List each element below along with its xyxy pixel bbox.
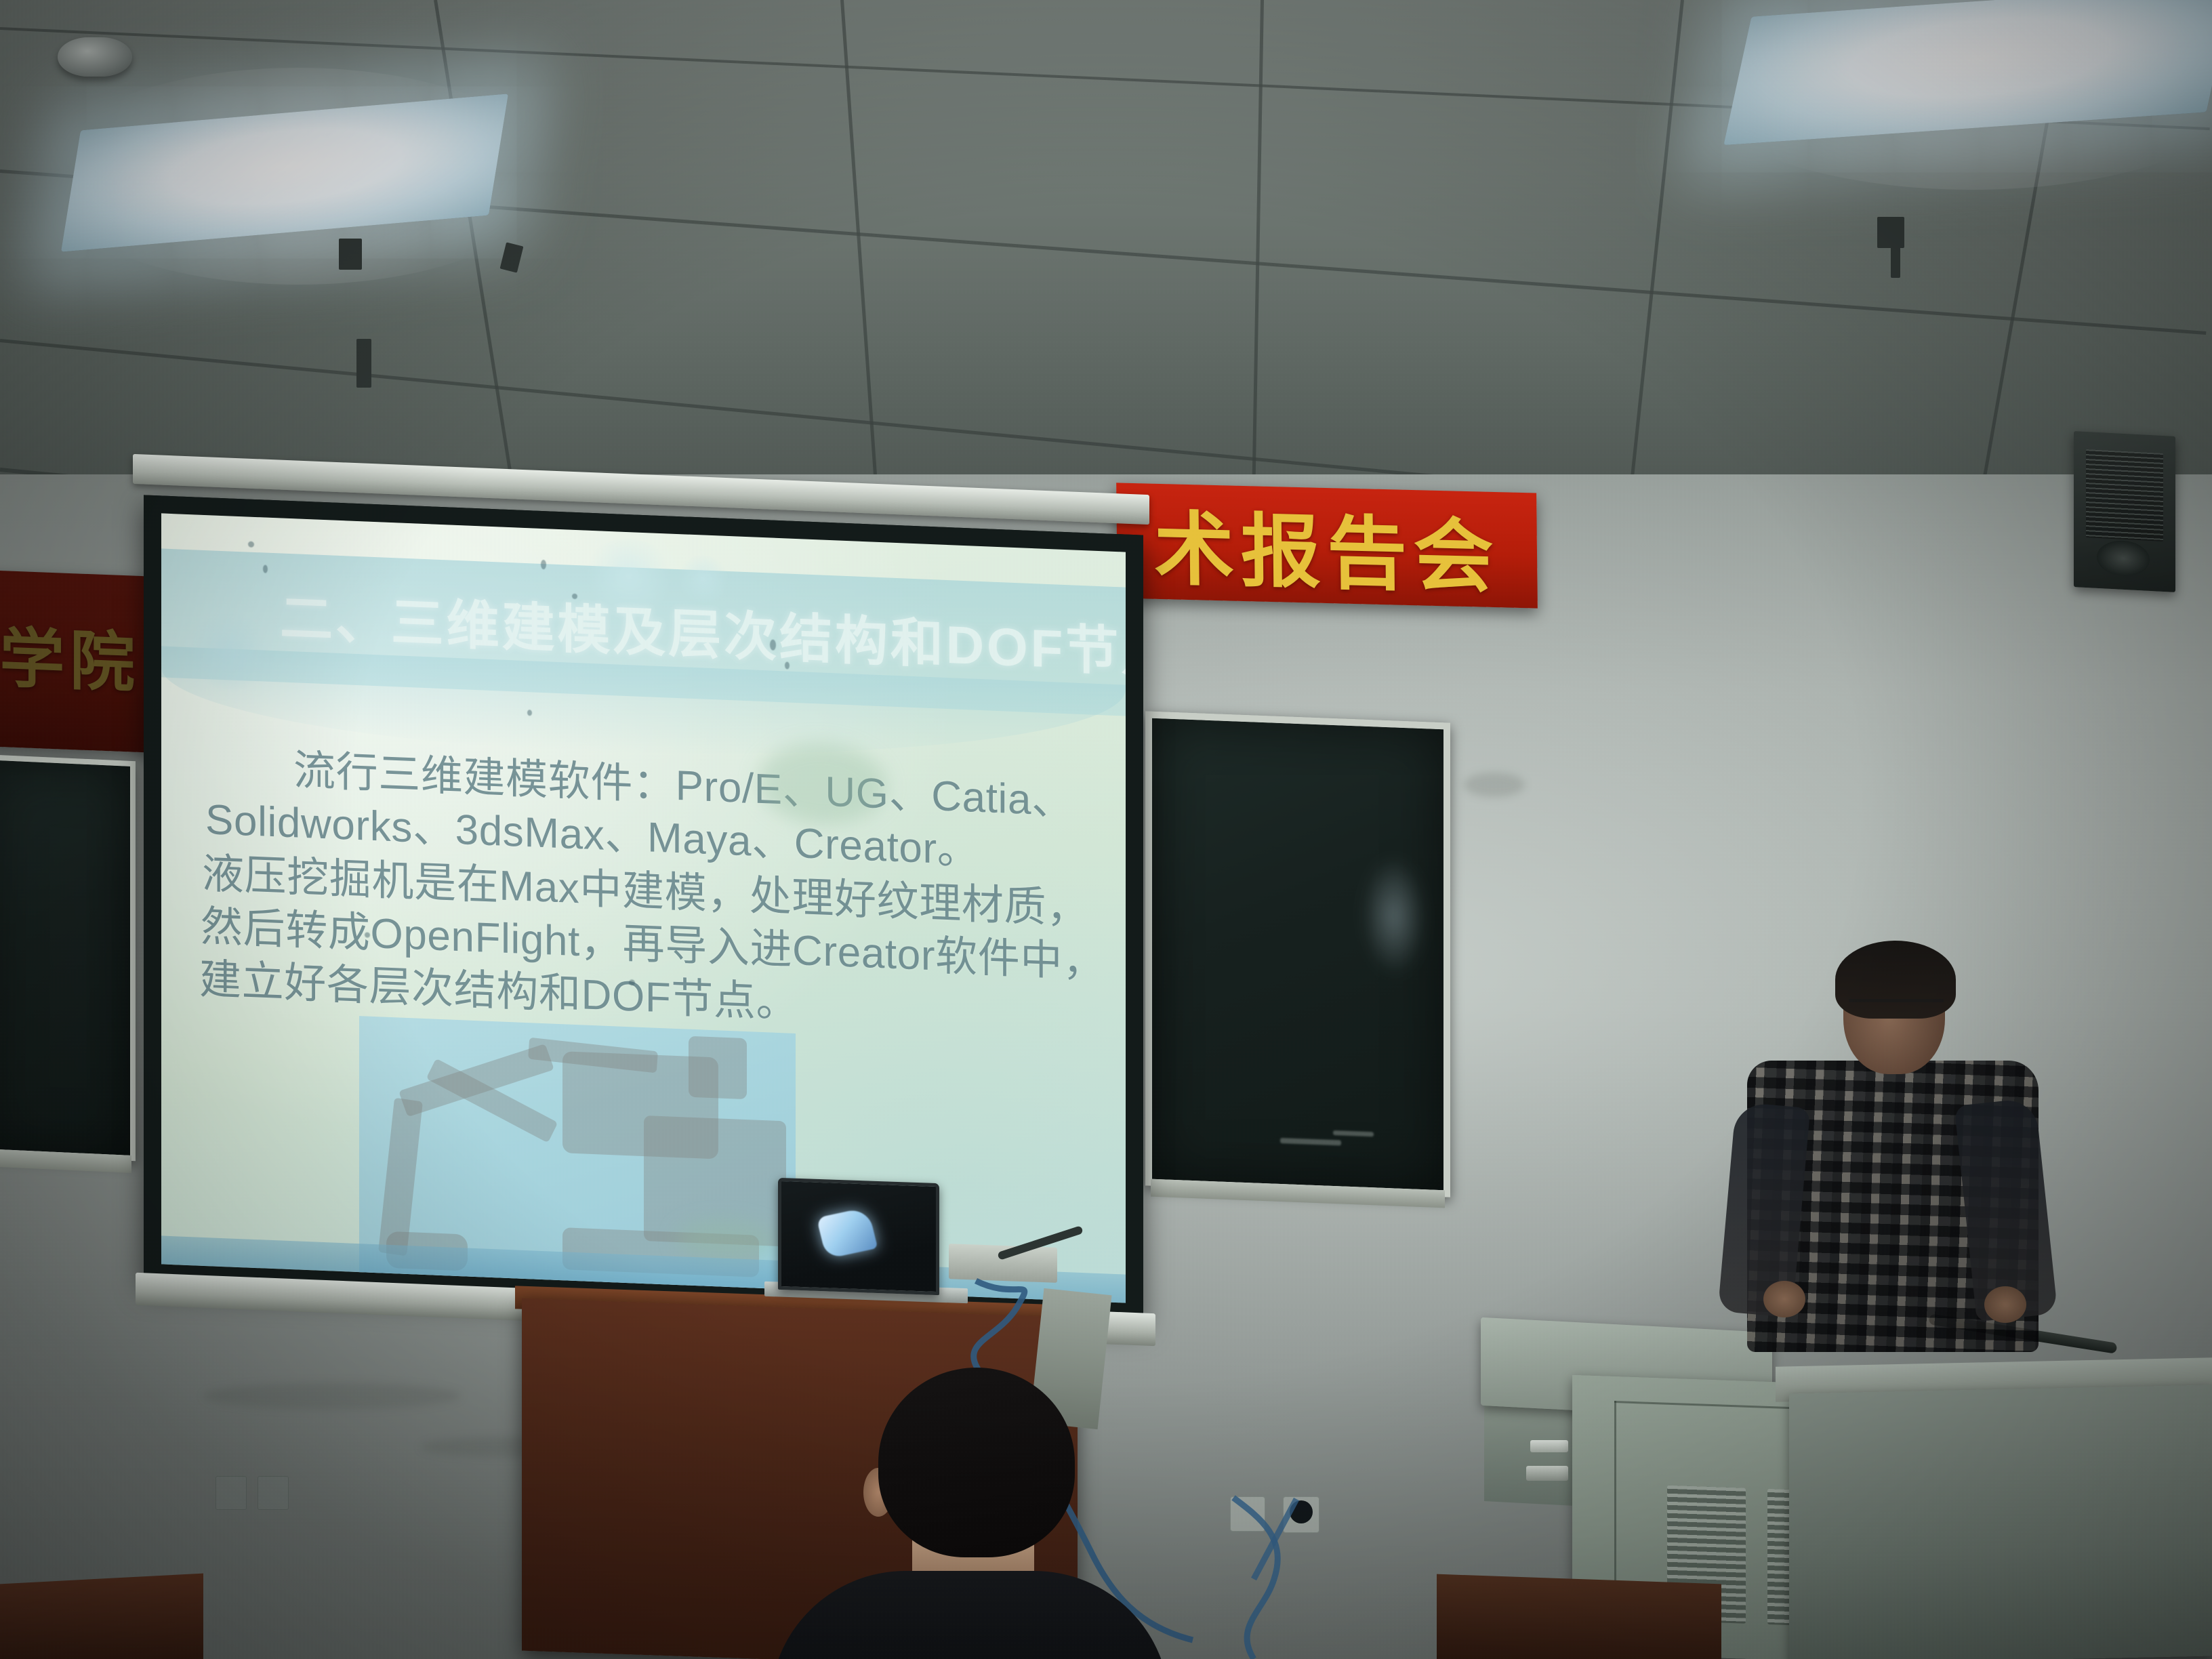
foreground-desk-right [1437,1574,1721,1659]
glasses-icon [1849,999,1944,1014]
laptop[interactable] [778,1178,939,1295]
presenter [1715,949,2067,1410]
chalkboard-left [0,754,136,1161]
banner-left-text: 学院 [0,626,140,697]
chalkboard-right [1145,711,1450,1197]
red-banner-left: 学院 [0,570,155,753]
ceiling-hook-1 [339,239,362,270]
projection-screen: 二、三维建模及层次结构和DOF节点 流行三维建模软件：Pro/E、UG、Cati… [144,495,1143,1321]
lectern [1789,1385,2212,1659]
presenter-hand-left [1763,1281,1805,1317]
audience-member [777,1368,1156,1659]
presentation-slide: 二、三维建模及层次结构和DOF节点 流行三维建模软件：Pro/E、UG、Cati… [161,513,1126,1303]
equipment-switch-2[interactable] [1526,1466,1568,1481]
banner-right-text: 术报告会 [1153,483,1500,608]
audience-shoulders [770,1571,1170,1659]
chalkboard-sheen [1362,855,1427,977]
presenter-hand-right [1984,1286,2026,1323]
audience-hair [878,1368,1075,1557]
wall-plate-1 [216,1476,247,1510]
ceiling [0,0,2212,515]
red-banner-right: 术报告会 [1116,483,1538,608]
ceiling-hook-3 [356,339,371,388]
foreground-desk-left [0,1574,203,1659]
classroom-photo: 术报告会 学院 二、三维建模及层次结构和DOF节点 流行三维建模软件：Pro/E… [0,0,2212,1659]
speaker-cone [2097,539,2150,577]
ceiling-hook-5 [1891,241,1900,278]
laptop-screen-logo [817,1207,878,1259]
smoke-detector [58,37,132,77]
speaker-grill [2086,449,2163,541]
wall-speaker [2074,431,2175,592]
equipment-switch-1[interactable] [1530,1440,1568,1452]
wall-plate-2 [258,1476,289,1510]
